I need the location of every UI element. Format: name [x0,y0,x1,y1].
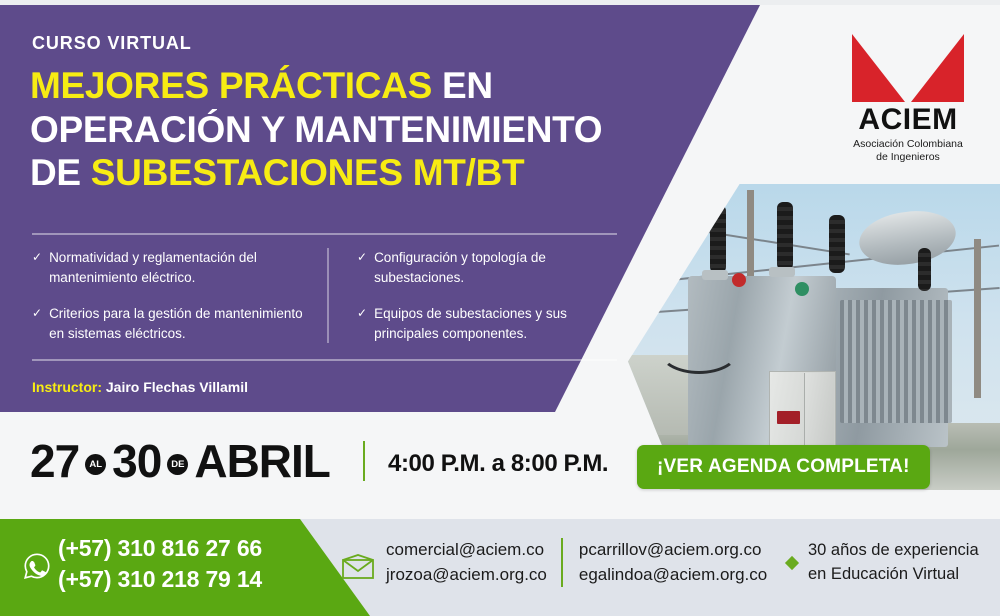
logo-tagline: Asociación Colombiana de Ingenieros [838,138,978,164]
logo-wordmark: ACIEM [838,105,978,135]
date-day-end: 30 [112,434,161,488]
schedule-time: 4:00 P.M. a 8:00 P.M. [388,450,608,478]
title-highlight-3: SUBESTACIONES MT/BT [91,152,525,193]
email-column-right: pcarrillov@aciem.org.co egalindoa@aciem.… [561,538,767,587]
title-line-2: OPERACIÓN Y MANTENIMIENTO [30,108,720,152]
experience-line-2: en Educación Virtual [808,563,979,587]
email-addresses: comercial@aciem.co jrozoa@aciem.org.co p… [386,538,767,587]
envelope-icon[interactable] [341,554,375,580]
photo-bushing [829,215,845,273]
logo-tagline-line2: de Ingenieros [876,151,940,163]
logo-tagline-line1: Asociación Colombiana [853,138,963,150]
date-separator-de: DE [167,454,188,475]
topics-column-left: ✓ Normatividad y reglamentación del mant… [32,248,327,343]
date-day-start: 27 [30,434,79,488]
time-divider [363,441,365,481]
email-1[interactable]: comercial@aciem.co [386,538,547,563]
email-4[interactable]: egalindoa@aciem.org.co [579,563,767,588]
kicker-label: CURSO VIRTUAL [32,33,192,54]
view-full-agenda-button[interactable]: ¡VER AGENDA COMPLETA! [637,445,930,489]
page-title: MEJORES PRÁCTICAS EN OPERACIÓN Y MANTENI… [30,64,720,195]
aciem-triangle-icon [852,34,964,102]
photo-radiator [840,300,952,422]
experience-note: 30 años de experiencia en Educación Virt… [808,539,979,587]
list-item-label: Equipos de subestaciones y sus principal… [374,304,600,343]
photo-bushing [777,202,793,269]
check-icon: ✓ [32,304,42,343]
check-icon: ✓ [32,248,42,287]
phone-numbers: (+57) 310 816 27 66 (+57) 310 218 79 14 [58,533,262,594]
phone-2: (+57) 310 218 79 14 [58,564,262,595]
list-item: ✓ Criterios para la gestión de mantenimi… [32,304,305,343]
experience-line-1: 30 años de experiencia [808,539,979,563]
photo-bushing-cap [769,267,795,277]
instructor-name: Jairo Flechas Villamil [106,379,248,395]
check-icon: ✓ [357,304,367,343]
email-3[interactable]: pcarrillov@aciem.org.co [579,538,767,563]
list-item: ✓ Configuración y topología de subestaci… [357,248,600,287]
photo-pole [974,239,981,398]
photo-cabinet-label [777,411,800,424]
title-highlight-1: MEJORES PRÁCTICAS [30,65,432,106]
divider-top [32,233,617,235]
title-rest-1: EN [432,65,493,106]
email-2[interactable]: jrozoa@aciem.org.co [386,563,547,588]
email-column-left: comercial@aciem.co jrozoa@aciem.org.co [386,538,547,587]
list-item-label: Normatividad y reglamentación del manten… [49,248,305,287]
top-strip [0,0,1000,5]
whatsapp-icon[interactable] [22,551,52,581]
divider-bottom [32,359,617,361]
triangle-left-icon [852,34,905,102]
aciem-logo: ACIEM Asociación Colombiana de Ingeniero… [838,34,978,164]
list-item-label: Configuración y topología de subestacion… [374,248,600,287]
instructor-label: Instructor: [32,379,102,395]
instructor-line: Instructor: Jairo Flechas Villamil [32,379,248,395]
date-separator-al: AL [85,454,106,475]
photo-bushing-cap [702,270,728,280]
photo-indicator-red [732,273,746,287]
phone-1: (+57) 310 816 27 66 [58,533,262,564]
date-month: ABRIL [194,434,330,488]
list-item: ✓ Normatividad y reglamentación del mant… [32,248,305,287]
triangle-right-icon [911,34,964,102]
list-item-label: Criterios para la gestión de mantenimien… [49,304,305,343]
title-line-3: DE SUBESTACIONES MT/BT [30,151,720,195]
title-prefix-3: DE [30,152,91,193]
date-range: 27 AL 30 DE ABRIL [30,434,330,488]
topics-column-right: ✓ Configuración y topología de subestaci… [327,248,622,343]
promo-banner: ACIEM Asociación Colombiana de Ingeniero… [0,0,1000,616]
photo-cable [658,325,740,374]
list-item: ✓ Equipos de subestaciones y sus princip… [357,304,600,343]
photo-bushing [918,248,931,291]
title-line-1: MEJORES PRÁCTICAS EN [30,64,720,108]
topics-list: ✓ Normatividad y reglamentación del mant… [32,248,622,343]
check-icon: ✓ [357,248,367,287]
